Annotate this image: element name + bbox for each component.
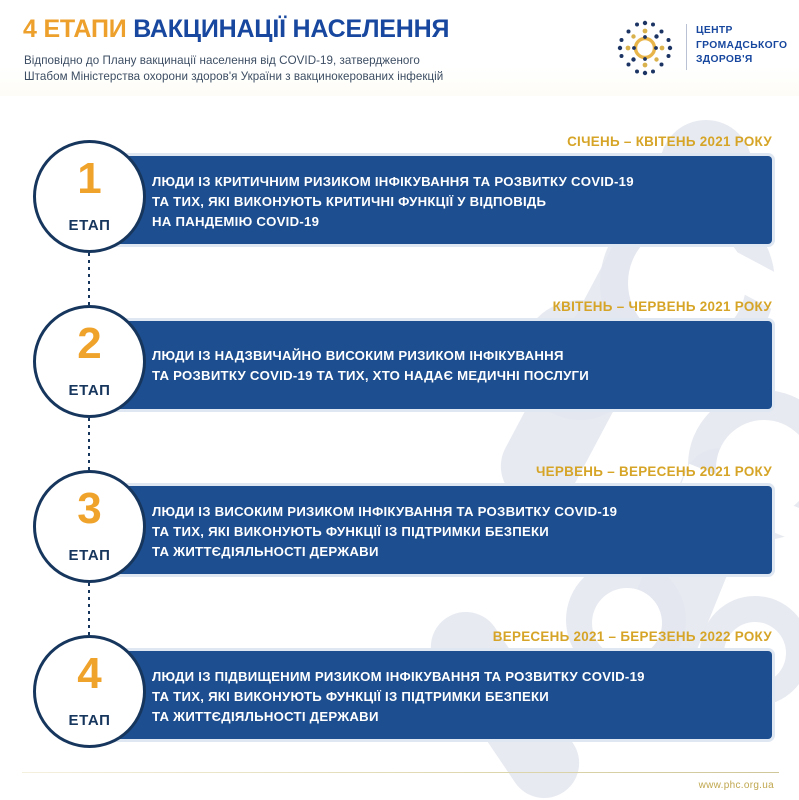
stage-3-date: ЧЕРВЕНЬ – ВЕРЕСЕНЬ 2021 РОКУ <box>536 464 772 479</box>
stage-4-number: 4 <box>36 652 143 696</box>
logo-text-line-1: ЦЕНТР <box>696 24 787 39</box>
stage-4-line-2: ТА ТИХ, ЯКІ ВИКОНУЮТЬ ФУНКЦІЇ ІЗ ПІДТРИМ… <box>152 687 758 707</box>
stage-1-circle: 1 ЕТАП <box>33 140 146 253</box>
stage-4-etap-label: ЕТАП <box>36 712 143 729</box>
stage-3-number: 3 <box>36 487 143 531</box>
stage-3-text: ЛЮДИ ІЗ ВИСОКИМ РИЗИКОМ ІНФІКУВАННЯ ТА Р… <box>152 502 758 562</box>
stage-2-date: КВІТЕНЬ – ЧЕРВЕНЬ 2021 РОКУ <box>553 299 772 314</box>
stage-3-line-3: ТА ЖИТТЄДІЯЛЬНОСТІ ДЕРЖАВИ <box>152 542 758 562</box>
stage-4-circle: 4 ЕТАП <box>33 635 146 748</box>
stage-1-date: СІЧЕНЬ – КВІТЕНЬ 2021 РОКУ <box>567 134 772 149</box>
stage-1-line-2: ТА ТИХ, ЯКІ ВИКОНУЮТЬ КРИТИЧНІ ФУНКЦІЇ У… <box>152 192 758 212</box>
stage-connector-3-4 <box>88 583 90 639</box>
stage-3-line-2: ТА ТИХ, ЯКІ ВИКОНУЮТЬ ФУНКЦІЇ ІЗ ПІДТРИМ… <box>152 522 758 542</box>
page-title-rest: ВАКЦИНАЦІЇ НАСЕЛЕННЯ <box>133 15 449 43</box>
stage-1-etap-label: ЕТАП <box>36 217 143 234</box>
logo-divider <box>686 24 687 70</box>
page-title-highlight: 4 ЕТАПИ <box>23 15 126 43</box>
logo-text-line-3: ЗДОРОВ'Я <box>696 53 787 68</box>
stage-2-circle: 2 ЕТАП <box>33 305 146 418</box>
stage-4-line-1: ЛЮДИ ІЗ ПІДВИЩЕНИМ РИЗИКОМ ІНФІКУВАННЯ Т… <box>152 667 758 687</box>
stage-3-circle: 3 ЕТАП <box>33 470 146 583</box>
page-title: 4 ЕТАПИ ВАКЦИНАЦІЇ НАСЕЛЕННЯ <box>23 17 449 42</box>
logo-text: ЦЕНТР ГРОМАДСЬКОГО ЗДОРОВ'Я <box>696 24 787 68</box>
stage-connector-1-2 <box>88 253 90 309</box>
stage-2-bar: ЛЮДИ ІЗ НАДЗВИЧАЙНО ВИСОКИМ РИЗИКОМ ІНФІ… <box>112 321 772 409</box>
stage-1-bar: ЛЮДИ ІЗ КРИТИЧНИМ РИЗИКОМ ІНФІКУВАННЯ ТА… <box>112 156 772 244</box>
stage-1-line-1: ЛЮДИ ІЗ КРИТИЧНИМ РИЗИКОМ ІНФІКУВАННЯ ТА… <box>152 172 758 192</box>
stage-2-line-2: ТА РОЗВИТКУ COVID-19 ТА ТИХ, ХТО НАДАЄ М… <box>152 366 758 386</box>
stage-4-date: ВЕРЕСЕНЬ 2021 – БЕРЕЗЕНЬ 2022 РОКУ <box>493 629 772 644</box>
stage-3-bar: ЛЮДИ ІЗ ВИСОКИМ РИЗИКОМ ІНФІКУВАННЯ ТА Р… <box>112 486 772 574</box>
stage-3-etap-label: ЕТАП <box>36 547 143 564</box>
footer-website-url[interactable]: www.phc.org.ua <box>699 780 774 791</box>
stage-2-number: 2 <box>36 322 143 366</box>
page-subtitle-line-1: Відповідно до Плану вакцинації населення… <box>24 53 584 69</box>
logo-text-line-2: ГРОМАДСЬКОГО <box>696 39 787 54</box>
stage-3-line-1: ЛЮДИ ІЗ ВИСОКИМ РИЗИКОМ ІНФІКУВАННЯ ТА Р… <box>152 502 758 522</box>
stage-4-bar: ЛЮДИ ІЗ ПІДВИЩЕНИМ РИЗИКОМ ІНФІКУВАННЯ Т… <box>112 651 772 739</box>
page-subtitle-line-2: Штабом Міністерства охорони здоров'я Укр… <box>24 69 584 85</box>
page-header: 4 ЕТАПИ ВАКЦИНАЦІЇ НАСЕЛЕННЯ Відповідно … <box>0 0 799 96</box>
organization-logo: ЦЕНТР ГРОМАДСЬКОГО ЗДОРОВ'Я <box>612 14 792 82</box>
page-subtitle: Відповідно до Плану вакцинації населення… <box>24 53 584 84</box>
stage-2-line-1: ЛЮДИ ІЗ НАДЗВИЧАЙНО ВИСОКИМ РИЗИКОМ ІНФІ… <box>152 346 758 366</box>
stage-2-etap-label: ЕТАП <box>36 382 143 399</box>
footer-divider <box>22 772 779 773</box>
stage-connector-2-3 <box>88 418 90 474</box>
sunburst-logo-icon <box>612 15 678 81</box>
stage-1-number: 1 <box>36 157 143 201</box>
infographic-page: 4 ЕТАПИ ВАКЦИНАЦІЇ НАСЕЛЕННЯ Відповідно … <box>0 0 799 800</box>
stage-2-text: ЛЮДИ ІЗ НАДЗВИЧАЙНО ВИСОКИМ РИЗИКОМ ІНФІ… <box>152 346 758 386</box>
stage-4-text: ЛЮДИ ІЗ ПІДВИЩЕНИМ РИЗИКОМ ІНФІКУВАННЯ Т… <box>152 667 758 727</box>
stage-1-text: ЛЮДИ ІЗ КРИТИЧНИМ РИЗИКОМ ІНФІКУВАННЯ ТА… <box>152 172 758 232</box>
stage-1-line-3: НА ПАНДЕМІЮ COVID-19 <box>152 212 758 232</box>
stage-4-line-3: ТА ЖИТТЄДІЯЛЬНОСТІ ДЕРЖАВИ <box>152 707 758 727</box>
